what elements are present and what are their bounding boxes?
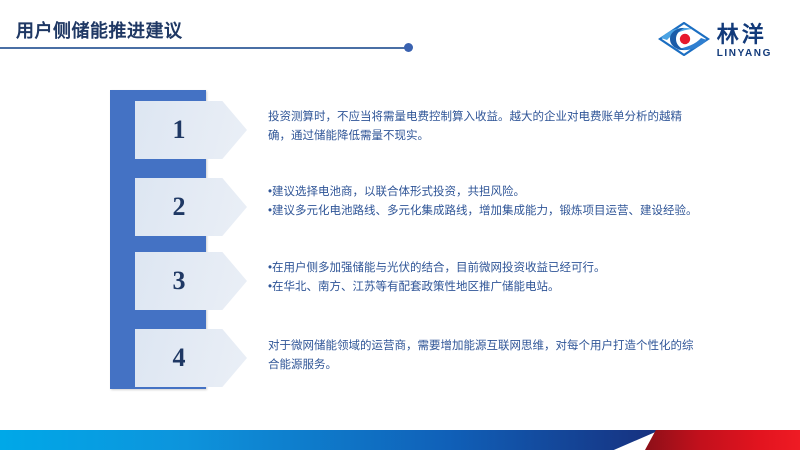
title-underline-rule (0, 47, 408, 49)
page-title: 用户侧储能推进建议 (16, 17, 183, 43)
logo-wordmark: 林洋 LINYANG (717, 24, 772, 59)
list-item-text-4: 对于微网储能领域的运营商，需要增加能源互联网思维，对每个用户打造个性化的综合能源… (268, 337, 700, 374)
list-item-number: 3 (135, 252, 223, 310)
body-line: •建议多元化电池路线、多元化集成路线，增加集成能力，锻炼项目运营、建设经验。 (268, 202, 700, 221)
list-item-chevron-1[interactable]: 1 (135, 101, 247, 159)
title-underline-dot-icon (404, 43, 413, 52)
list-item-text-2: •建议选择电池商，以联合体形式投资，共担风险。 •建议多元化电池路线、多元化集成… (268, 183, 700, 220)
company-logo: 林洋 LINYANG (658, 22, 772, 61)
footer-blue-band (0, 430, 660, 450)
list-item-text-3: •在用户侧多加强储能与光伏的结合，目前微网投资收益已经可行。 •在华北、南方、江… (268, 259, 700, 296)
slide-canvas: 用户侧储能推进建议 林洋 LINYANG 1 投资测算时，不应当将需量电费控制算… (0, 0, 800, 450)
body-line: •建议选择电池商，以联合体形式投资，共担风险。 (268, 183, 700, 202)
list-item-text-1: 投资测算时，不应当将需量电费控制算入收益。越大的企业对电费账单分析的越精确，通过… (268, 108, 700, 145)
logo-name-en: LINYANG (717, 49, 772, 59)
body-line: •在华北、南方、江苏等有配套政策性地区推广储能电站。 (268, 278, 700, 297)
list-item-chevron-2[interactable]: 2 (135, 178, 247, 236)
list-item-number: 4 (135, 329, 223, 387)
body-line: 投资测算时，不应当将需量电费控制算入收益。越大的企业对电费账单分析的越精确，通过… (268, 108, 700, 145)
list-item-number: 2 (135, 178, 223, 236)
list-item-number: 1 (135, 101, 223, 159)
body-line: 对于微网储能领域的运营商，需要增加能源互联网思维，对每个用户打造个性化的综合能源… (268, 337, 700, 374)
footer-red-band (645, 430, 800, 450)
body-line: •在用户侧多加强储能与光伏的结合，目前微网投资收益已经可行。 (268, 259, 700, 278)
footer-decoration-bar (0, 430, 800, 450)
list-item-chevron-4[interactable]: 4 (135, 329, 247, 387)
list-item-chevron-3[interactable]: 3 (135, 252, 247, 310)
linyang-emblem-icon (658, 22, 710, 61)
logo-name-cn: 林洋 (717, 24, 772, 46)
